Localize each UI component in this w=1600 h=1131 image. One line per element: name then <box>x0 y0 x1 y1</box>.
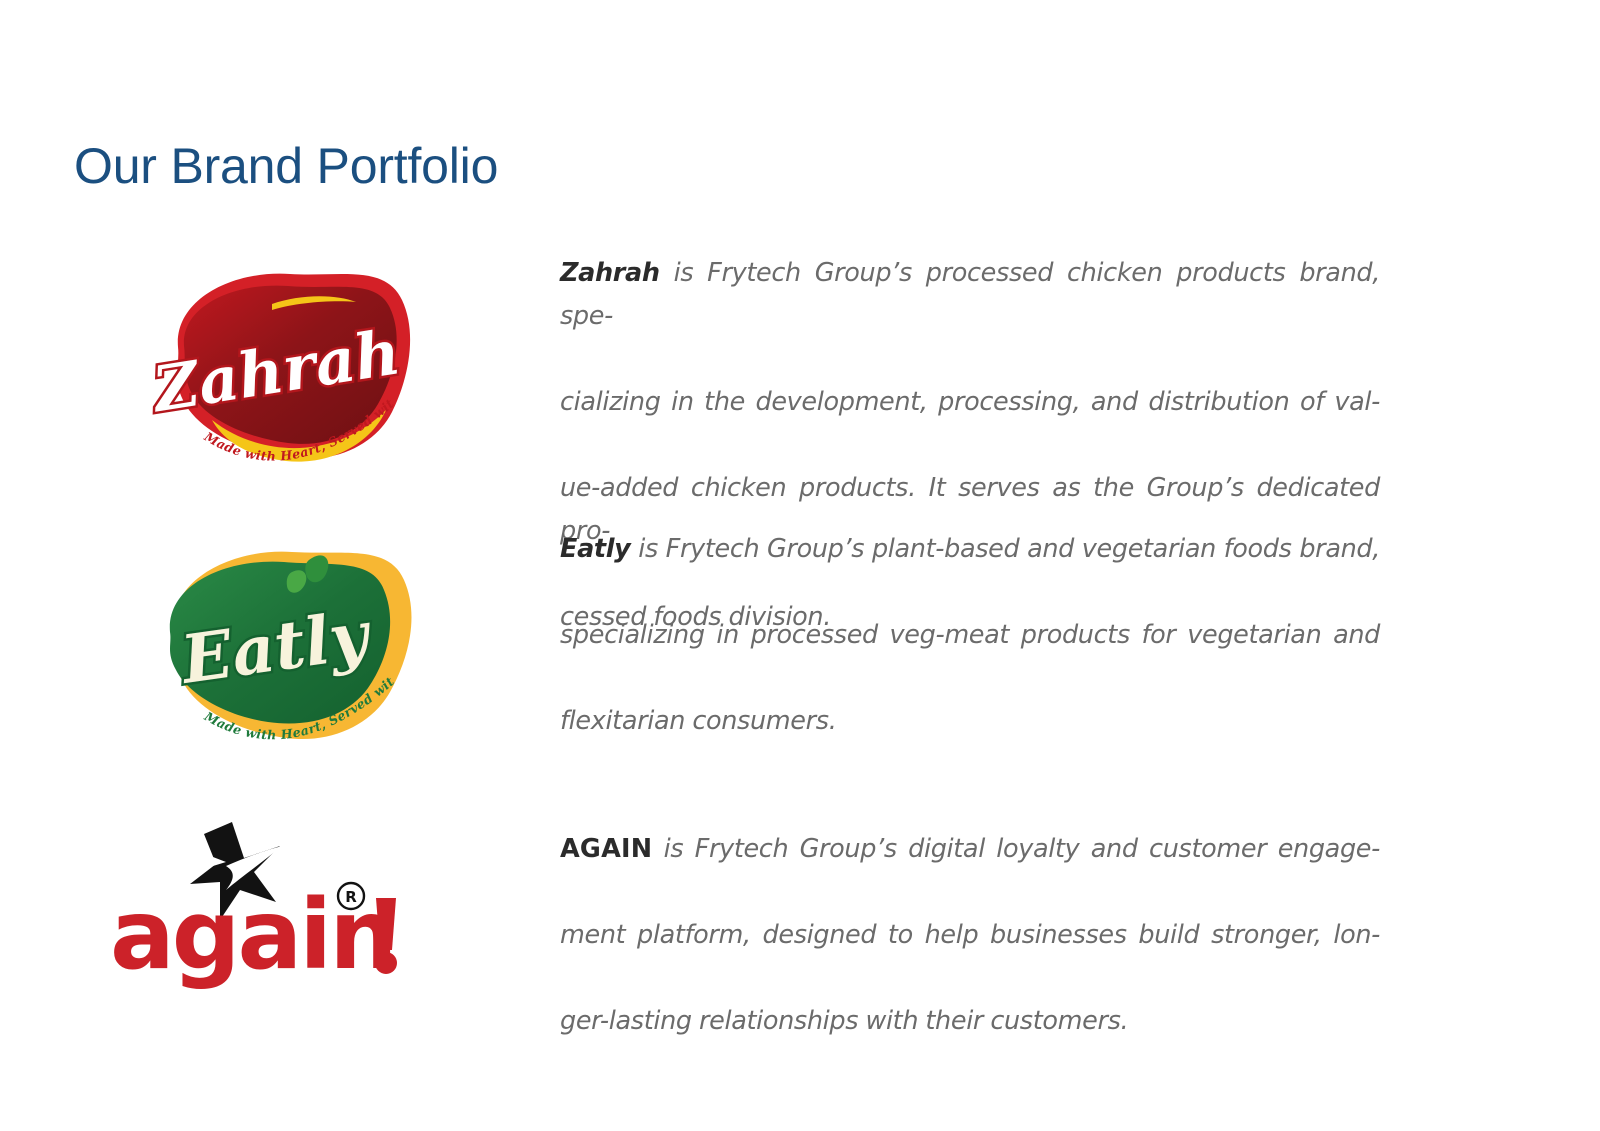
eatly-logo: Eatly Made with Heart, Served with Love. <box>140 528 420 768</box>
desc-line: ger-lasting relationships with their cus… <box>560 1000 1380 1043</box>
brand-name-again: AGAIN <box>560 834 652 864</box>
desc-line: cializing in the development, processing… <box>560 381 1380 467</box>
eatly-text-cell: Eatly is Frytech Group’s plant-based and… <box>560 528 1380 743</box>
brand-row-zahrah: Zahrah Made with Heart, Served with Love… <box>0 252 1600 514</box>
desc-line: flexitarian consumers. <box>560 700 1380 743</box>
svg-text:R: R <box>345 888 357 906</box>
again-logo: again R <box>104 806 434 996</box>
desc-line: AGAIN is Frytech Group’s digital loyalty… <box>560 828 1380 914</box>
brand-name-zahrah: Zahrah <box>560 258 660 288</box>
again-description: AGAIN is Frytech Group’s digital loyalty… <box>560 828 1380 1043</box>
page-title: Our Brand Portfolio <box>74 138 498 196</box>
brand-name-eatly: Eatly <box>560 534 630 564</box>
again-logo-cell: again R <box>0 806 560 996</box>
again-text-cell: AGAIN is Frytech Group’s digital loyalty… <box>560 806 1380 1043</box>
brand-row-eatly: Eatly Made with Heart, Served with Love.… <box>0 528 1600 790</box>
eatly-logo-cell: Eatly Made with Heart, Served with Love. <box>0 528 560 768</box>
desc-line: Eatly is Frytech Group’s plant-based and… <box>560 528 1380 614</box>
zahrah-logo-cell: Zahrah Made with Heart, Served with Love… <box>0 252 560 492</box>
desc-line: specializing in processed veg-meat produ… <box>560 614 1380 700</box>
desc-line-text: is Frytech Group’s processed chicken pro… <box>560 258 1380 331</box>
eatly-description: Eatly is Frytech Group’s plant-based and… <box>560 528 1380 743</box>
desc-line-text: is Frytech Group’s digital loyalty and c… <box>664 834 1380 864</box>
desc-line: ment platform, designed to help business… <box>560 914 1380 1000</box>
desc-line-text: is Frytech Group’s plant-based and veget… <box>638 534 1380 564</box>
zahrah-logo: Zahrah Made with Heart, Served with Love… <box>140 252 420 492</box>
desc-line: Zahrah is Frytech Group’s processed chic… <box>560 252 1380 381</box>
brand-row-again: again R AGAIN is Frytech Group’s digital… <box>0 806 1600 1036</box>
